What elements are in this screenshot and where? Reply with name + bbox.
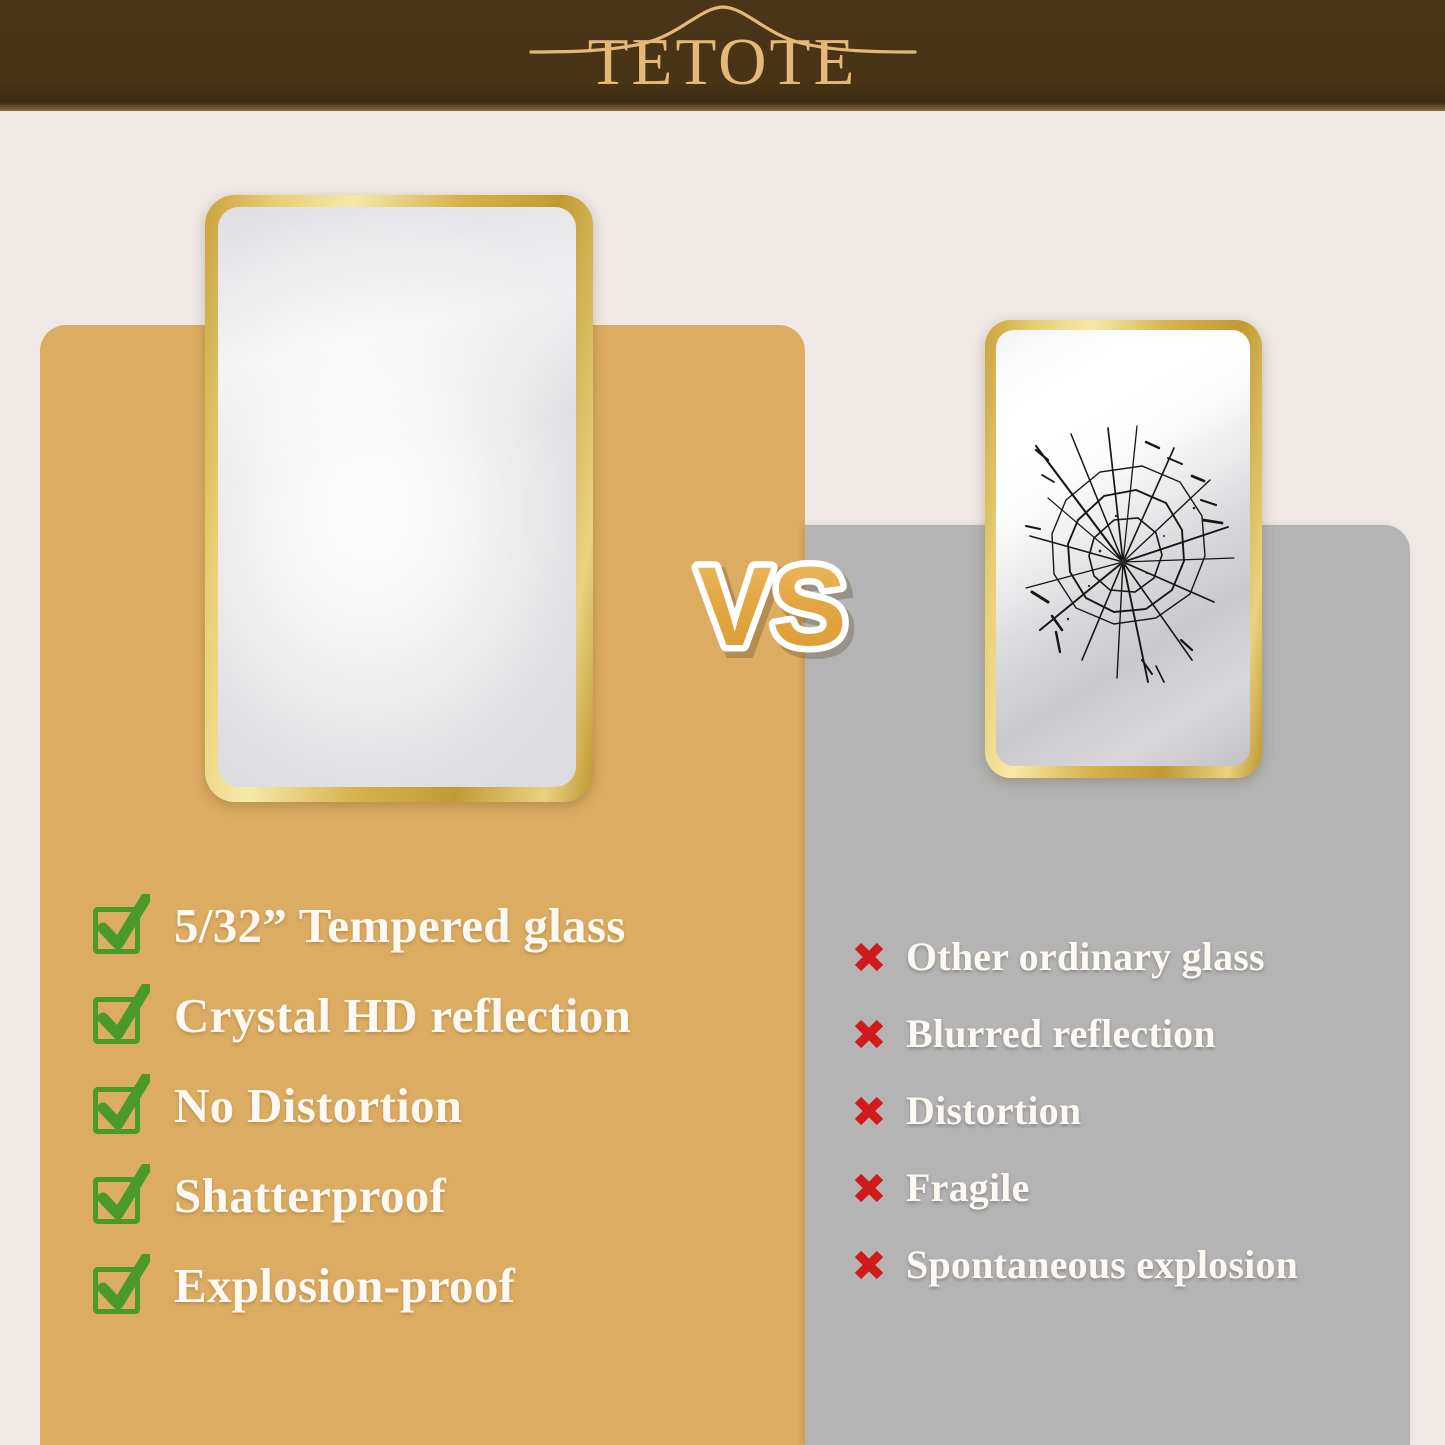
list-item-label: Crystal HD reflection (174, 987, 631, 1044)
cross-x-icon (852, 1247, 886, 1283)
brand-name: TETOTE (513, 24, 933, 100)
mirror-glass-surface (996, 330, 1250, 766)
list-item-label: Shatterproof (174, 1167, 446, 1224)
list-item: Shatterproof (92, 1150, 782, 1240)
vs-label: VS (697, 548, 846, 668)
shattered-glass-crack-icon (996, 330, 1250, 766)
cons-feature-list: Other ordinary glass Blurred reflection … (852, 918, 1412, 1303)
list-item: 5/32” Tempered glass (92, 880, 782, 970)
list-item-label: Spontaneous explosion (906, 1241, 1298, 1288)
list-item: Blurred reflection (852, 995, 1412, 1072)
glass-sheen (218, 207, 576, 526)
list-item-label: 5/32” Tempered glass (174, 897, 626, 954)
list-item: Crystal HD reflection (92, 970, 782, 1060)
checkbox-check-icon (92, 894, 150, 956)
cross-x-icon (852, 1016, 886, 1052)
list-item: Spontaneous explosion (852, 1226, 1412, 1303)
mirror-glass-surface (218, 207, 576, 787)
pros-feature-list: 5/32” Tempered glass Crystal HD reflecti… (92, 880, 782, 1330)
cross-x-icon (852, 1170, 886, 1206)
list-item-label: Other ordinary glass (906, 933, 1265, 980)
list-item: No Distortion (92, 1060, 782, 1150)
list-item: Explosion-proof (92, 1240, 782, 1330)
checkbox-check-icon (92, 1164, 150, 1226)
tempered-mirror-image (205, 195, 593, 802)
list-item-label: Blurred reflection (906, 1010, 1216, 1057)
list-item-label: No Distortion (174, 1077, 462, 1134)
vs-badge: VS VS VS (660, 548, 890, 668)
checkbox-check-icon (92, 1254, 150, 1316)
cracked-mirror-image (985, 320, 1262, 778)
list-item: Other ordinary glass (852, 918, 1412, 995)
list-item-label: Fragile (906, 1164, 1030, 1211)
brand-logo: TETOTE (513, 0, 933, 111)
list-item: Fragile (852, 1149, 1412, 1226)
cross-x-icon (852, 1093, 886, 1129)
cross-x-icon (852, 939, 886, 975)
checkbox-check-icon (92, 984, 150, 1046)
list-item-label: Distortion (906, 1087, 1081, 1134)
list-item: Distortion (852, 1072, 1412, 1149)
list-item-label: Explosion-proof (174, 1257, 515, 1314)
brand-header-bar: TETOTE (0, 0, 1445, 111)
checkbox-check-icon (92, 1074, 150, 1136)
product-comparison-infographic: TETOTE (0, 0, 1445, 1445)
